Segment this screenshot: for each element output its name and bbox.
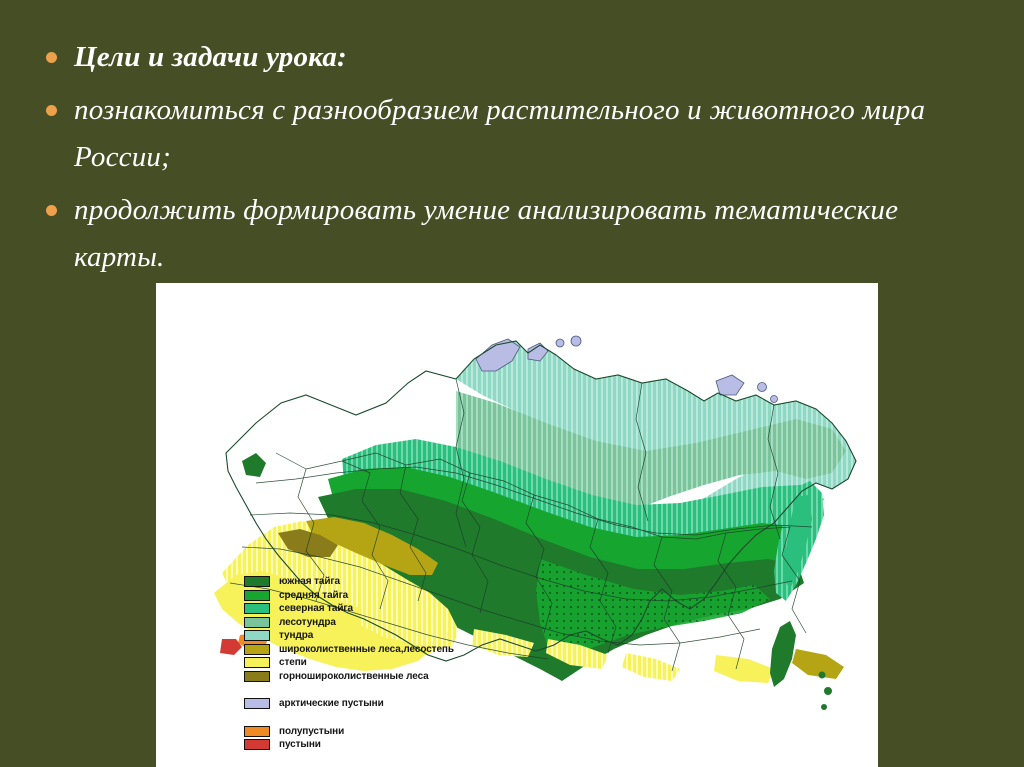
legend-label: степи: [279, 657, 307, 668]
legend-group-deserts: полупустыни пустыни: [244, 725, 664, 752]
legend-swatch: [244, 739, 270, 750]
list-item: продолжить формировать умение анализиров…: [36, 187, 966, 281]
legend-label: полупустыни: [279, 726, 344, 737]
legend-spacer: [244, 711, 664, 725]
legend-swatch: [244, 657, 270, 668]
bullet-dot-icon: [46, 52, 57, 63]
legend-swatch: [244, 603, 270, 614]
legend-item: широколиственные леса,лесостепь: [244, 643, 664, 657]
map-legend: южная тайга средняя тайга северная тайга…: [244, 575, 664, 752]
legend-swatch: [244, 671, 270, 682]
legend-label: тундра: [279, 630, 313, 641]
legend-swatch: [244, 698, 270, 709]
legend-swatch: [244, 726, 270, 737]
legend-item: пустыни: [244, 738, 664, 752]
legend-label: широколиственные леса,лесостепь: [279, 644, 454, 655]
legend-item: северная тайга: [244, 602, 664, 616]
legend-label: пустыни: [279, 739, 321, 750]
legend-group-arctic: арктические пустыни: [244, 697, 664, 711]
legend-item: южная тайга: [244, 575, 664, 589]
legend-item: средняя тайга: [244, 589, 664, 603]
list-item-text: познакомиться с разнообразием растительн…: [74, 94, 925, 173]
legend-swatch: [244, 590, 270, 601]
legend-swatch: [244, 644, 270, 655]
list-item: Цели и задачи урока:: [36, 34, 966, 81]
legend-group-zones: южная тайга средняя тайга северная тайга…: [244, 575, 664, 683]
slide-canvas: Цели и задачи урока: познакомиться с раз…: [0, 0, 1024, 767]
legend-swatch: [244, 630, 270, 641]
map-image: Природные зоны и подзоны.: [156, 283, 878, 767]
legend-label: лесотундра: [279, 617, 336, 628]
legend-label: горношироколиственные леса: [279, 671, 429, 682]
legend-item: горношироколиственные леса: [244, 670, 664, 684]
list-item-text: Цели и задачи урока:: [74, 41, 347, 73]
list-item-text: продолжить формировать умение анализиров…: [74, 194, 898, 273]
legend-item: арктические пустыни: [244, 697, 664, 711]
legend-label: средняя тайга: [279, 590, 348, 601]
legend-swatch: [244, 617, 270, 628]
legend-spacer: [244, 683, 664, 697]
legend-label: северная тайга: [279, 603, 353, 614]
legend-label: арктические пустыни: [279, 698, 384, 709]
bullet-dot-icon: [46, 205, 57, 216]
legend-item: тундра: [244, 629, 664, 643]
legend-item: степи: [244, 656, 664, 670]
bullet-dot-icon: [46, 105, 57, 116]
legend-item: лесотундра: [244, 616, 664, 630]
list-item: познакомиться с разнообразием растительн…: [36, 87, 966, 181]
legend-item: полупустыни: [244, 725, 664, 739]
legend-swatch: [244, 576, 270, 587]
objectives-list: Цели и задачи урока: познакомиться с раз…: [36, 34, 966, 287]
legend-label: южная тайга: [279, 576, 340, 587]
